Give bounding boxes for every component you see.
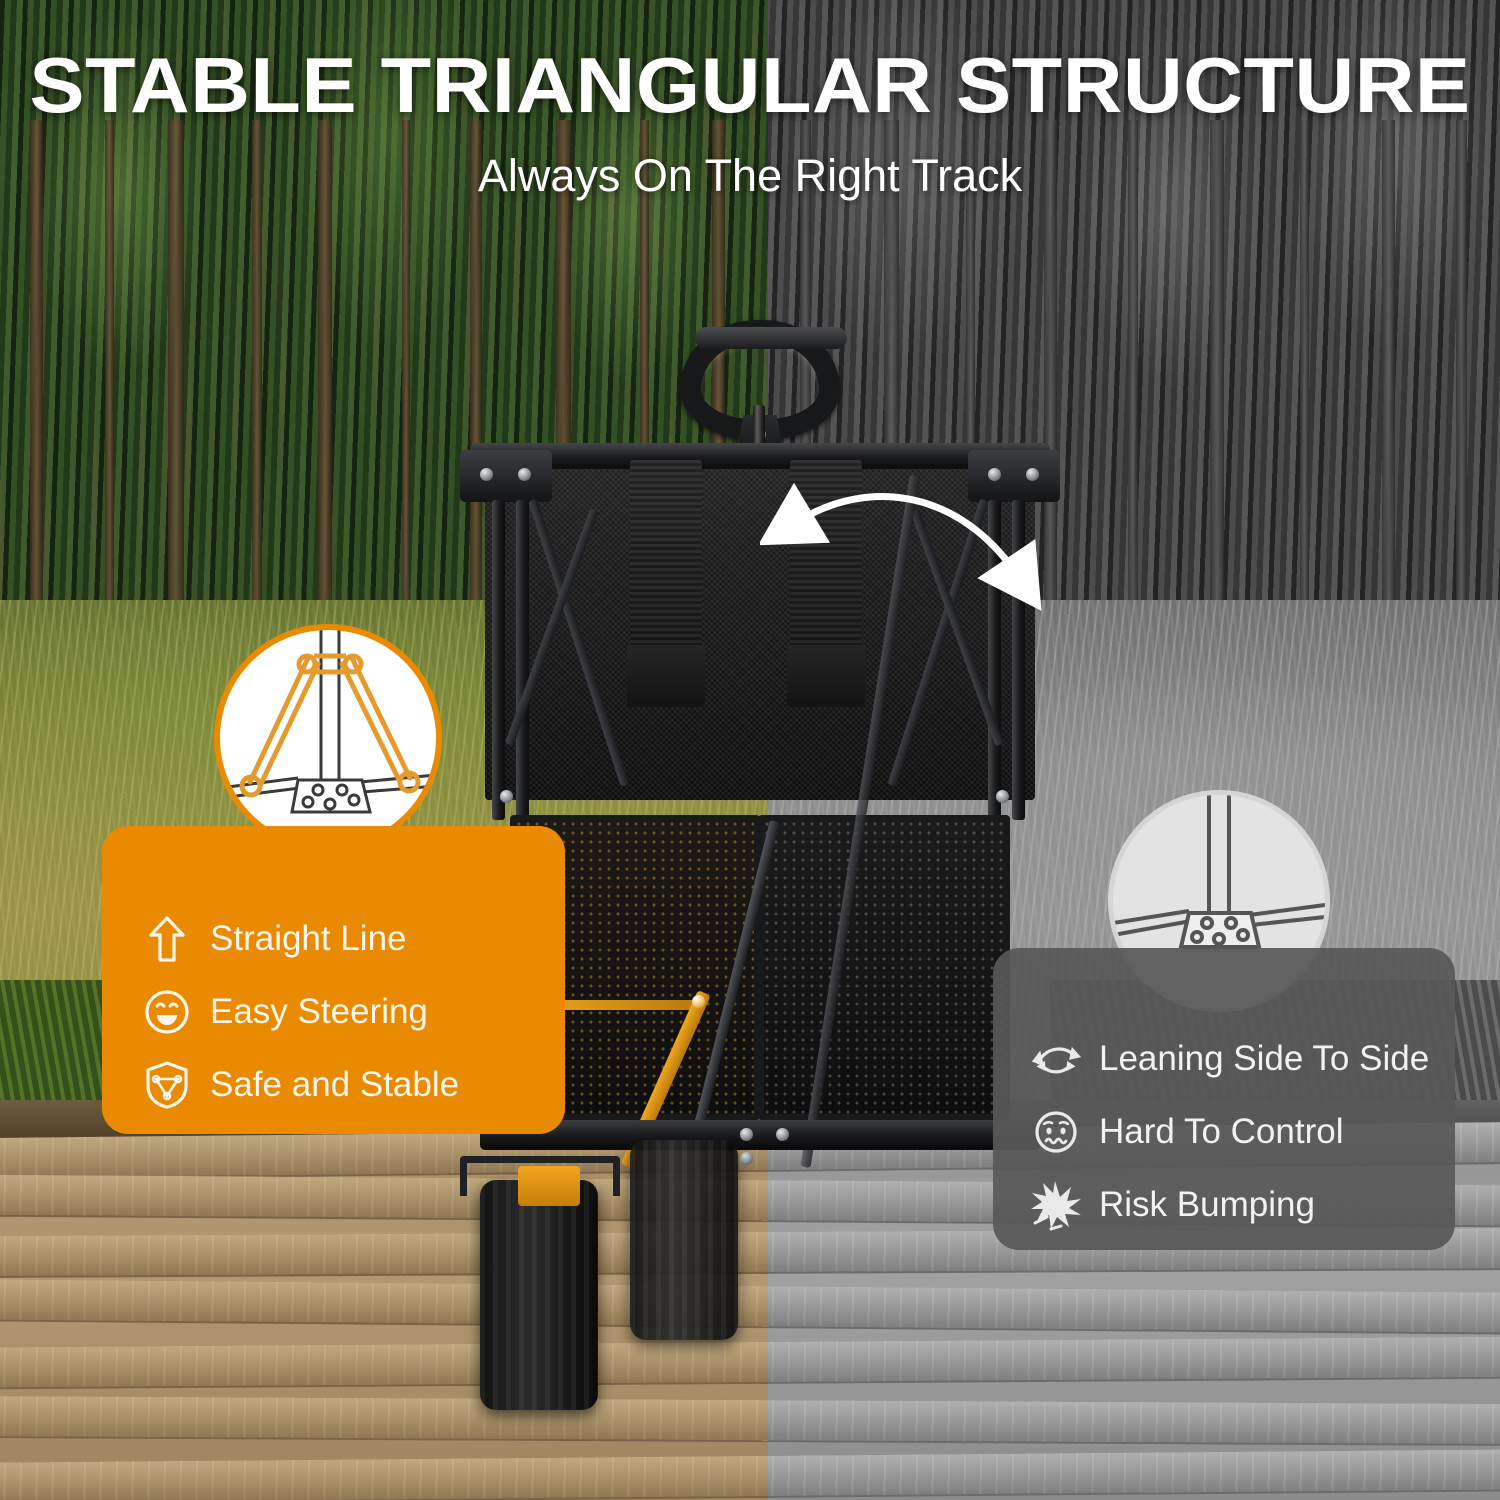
benefit-row: Easy Steering — [140, 975, 565, 1048]
benefits-panel: Straight Line Easy Steering — [102, 826, 565, 1134]
smiley-face-icon — [140, 985, 194, 1039]
benefit-label: Easy Steering — [210, 992, 428, 1032]
drawback-label: Leaning Side To Side — [1099, 1039, 1429, 1079]
page-subtitle: Always On The Right Track — [0, 150, 1500, 202]
double-curved-arrow-annotation — [760, 470, 1080, 630]
benefit-row: Straight Line — [140, 902, 565, 975]
cart-brake-pedal — [518, 1166, 580, 1206]
cart-wheel-rear — [630, 1140, 738, 1340]
drawback-label: Hard To Control — [1099, 1112, 1343, 1152]
triangular-brace-closeup-badge — [214, 624, 442, 852]
double-curved-arrow-icon — [1029, 1032, 1083, 1086]
benefit-label: Safe and Stable — [210, 1065, 459, 1105]
benefit-row: Safe and Stable — [140, 1048, 565, 1121]
product-feature-image: STABLE TRIANGULAR STRUCTURE Always On Th… — [0, 0, 1500, 1500]
cart-wheel-front — [480, 1180, 598, 1410]
cart-strap — [630, 460, 702, 655]
drawback-row: Hard To Control — [1029, 1095, 1455, 1168]
cart-strap-tab — [787, 645, 865, 707]
cart-mesh-panel-right — [758, 815, 1010, 1120]
page-title: STABLE TRIANGULAR STRUCTURE — [0, 46, 1500, 124]
up-arrow-icon — [140, 912, 194, 966]
impact-burst-icon — [1029, 1178, 1083, 1232]
shield-triangle-icon — [140, 1058, 194, 1112]
drawback-row: Leaning Side To Side — [1029, 1022, 1455, 1095]
worried-face-icon — [1029, 1105, 1083, 1159]
cart-strap-tab — [627, 645, 705, 707]
drawbacks-panel: Leaning Side To Side Hard To Control — [993, 948, 1455, 1250]
header-block: STABLE TRIANGULAR STRUCTURE Always On Th… — [0, 46, 1500, 202]
benefit-label: Straight Line — [210, 919, 407, 959]
drawback-label: Risk Bumping — [1099, 1185, 1315, 1225]
drawback-row: Risk Bumping — [1029, 1168, 1455, 1241]
cart-corner-bracket — [460, 450, 552, 502]
cart-top-rail — [470, 443, 1050, 469]
